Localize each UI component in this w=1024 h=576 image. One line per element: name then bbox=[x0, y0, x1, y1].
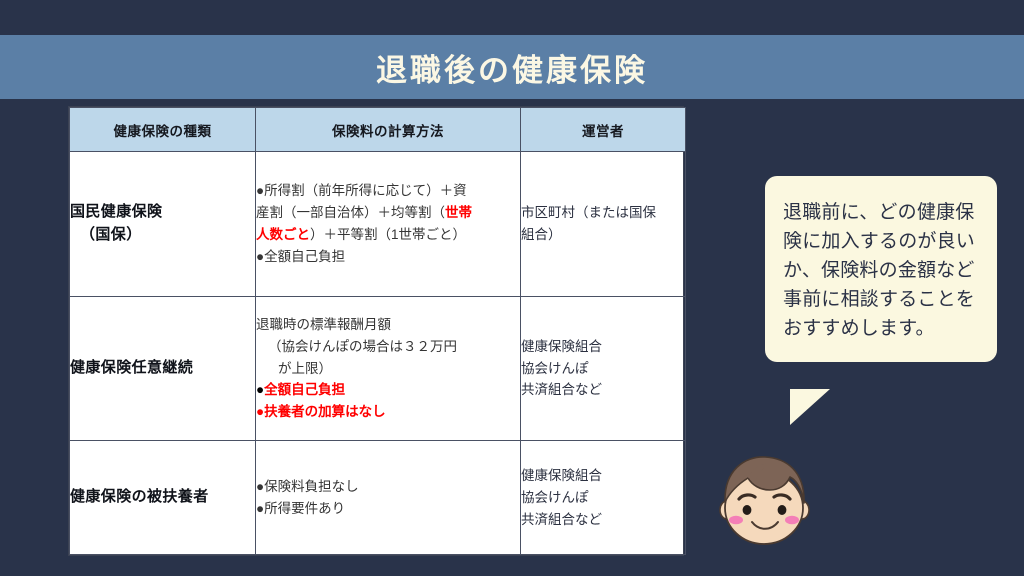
table-row: 健康保険の被扶養者 ●保険料負担なし ●所得要件あり 健康保険組合 協会けんぽ … bbox=[70, 441, 686, 555]
table-row: 国民健康保険 （国保） ●所得割（前年所得に応じて）＋資 産割（一部自治体）＋均… bbox=[70, 152, 686, 297]
row-2-insurance-type: 健康保険任意継続 bbox=[70, 296, 256, 441]
row-1-calc-line-3-text: ）＋平等割（1世帯ごと） bbox=[310, 227, 466, 242]
row-1-operator-line-2: 組合） bbox=[521, 224, 685, 246]
row-2-calc-line-3: が上限） bbox=[256, 358, 520, 380]
row-1-premium-calculation: ●所得割（前年所得に応じて）＋資 産割（一部自治体）＋均等割（世帯 人数ごと）＋… bbox=[256, 152, 521, 297]
row-3-premium-calculation: ●保険料負担なし ●所得要件あり bbox=[256, 441, 521, 555]
row-1-calc-line-1: ●所得割（前年所得に応じて）＋資 bbox=[256, 180, 520, 202]
row-2-calc-line-2: （協会けんぽの場合は３２万円 bbox=[256, 336, 520, 358]
row-1-calc-highlight-a: 世帯 bbox=[445, 205, 472, 220]
row-3-operator-line-2: 協会けんぽ bbox=[521, 487, 685, 509]
advice-callout-text: 退職前に、どの健康保険に加入するのが良いか、保険料の金額など事前に相談することを… bbox=[783, 198, 979, 342]
row-3-operator-line-1: 健康保険組合 bbox=[521, 465, 685, 487]
row-2-operator-line-3: 共済組合など bbox=[521, 379, 685, 401]
row-1-calc-line-4: ●全額自己負担 bbox=[256, 246, 520, 268]
column-header-operator: 運営者 bbox=[521, 108, 686, 152]
row-2-operator: 健康保険組合 協会けんぽ 共済組合など bbox=[521, 296, 686, 441]
bubble-tail bbox=[790, 389, 830, 425]
row-1-operator-line-1: 市区町村（または国保 bbox=[521, 202, 685, 224]
row-3-insurance-type: 健康保険の被扶養者 bbox=[70, 441, 256, 555]
insurance-comparison-table: 健康保険の種類 保険料の計算方法 運営者 国民健康保険 （国保） ●所得割（前年… bbox=[68, 106, 684, 556]
row-3-operator-line-3: 共済組合など bbox=[521, 509, 685, 531]
table-header-row: 健康保険の種類 保険料の計算方法 運営者 bbox=[70, 108, 686, 152]
row-3-type-main: 健康保険の被扶養者 bbox=[70, 488, 209, 505]
row-1-calc-line-2-text: 産割（一部自治体）＋均等割（ bbox=[256, 205, 445, 220]
row-1-calc-line-2: 産割（一部自治体）＋均等割（世帯 bbox=[256, 202, 520, 224]
title-banner: 退職後の健康保険 bbox=[0, 35, 1024, 99]
table-row: 健康保険任意継続 退職時の標準報酬月額 （協会けんぽの場合は３２万円 が上限） … bbox=[70, 296, 686, 441]
cartoon-face-icon bbox=[712, 452, 817, 552]
row-1-insurance-type: 国民健康保険 （国保） bbox=[70, 152, 256, 297]
row-2-operator-line-2: 協会けんぽ bbox=[521, 358, 685, 380]
avatar bbox=[712, 452, 817, 552]
row-3-calc-line-1: ●保険料負担なし bbox=[256, 476, 520, 498]
row-2-calc-line-4: ●全額自己負担 bbox=[256, 379, 520, 401]
row-1-calc-highlight-b: 人数ごと bbox=[256, 227, 310, 242]
row-1-type-sub: （国保） bbox=[70, 224, 255, 247]
row-1-type-main: 国民健康保険 bbox=[70, 203, 162, 220]
column-header-insurance-type: 健康保険の種類 bbox=[70, 108, 256, 152]
advice-callout-bubble: 退職前に、どの健康保険に加入するのが良いか、保険料の金額など事前に相談することを… bbox=[765, 176, 997, 362]
row-2-calc-line-5: ●扶養者の加算はなし bbox=[256, 401, 520, 423]
row-1-operator: 市区町村（または国保 組合） bbox=[521, 152, 686, 297]
row-3-calc-line-2: ●所得要件あり bbox=[256, 498, 520, 520]
column-header-premium-calculation: 保険料の計算方法 bbox=[256, 108, 521, 152]
row-2-operator-line-1: 健康保険組合 bbox=[521, 336, 685, 358]
row-2-calc-line-1: 退職時の標準報酬月額 bbox=[256, 314, 520, 336]
row-1-calc-line-3: 人数ごと）＋平等割（1世帯ごと） bbox=[256, 224, 520, 246]
row-2-type-main: 健康保険任意継続 bbox=[70, 359, 193, 376]
row-3-operator: 健康保険組合 協会けんぽ 共済組合など bbox=[521, 441, 686, 555]
page-title: 退職後の健康保険 bbox=[376, 45, 648, 90]
row-2-premium-calculation: 退職時の標準報酬月額 （協会けんぽの場合は３２万円 が上限） ●全額自己負担 ●… bbox=[256, 296, 521, 441]
